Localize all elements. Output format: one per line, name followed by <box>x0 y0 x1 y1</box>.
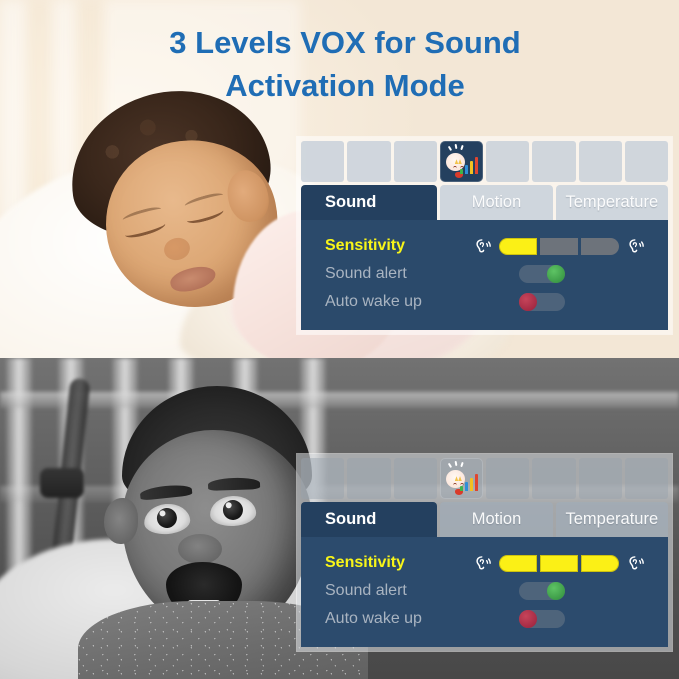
row-auto-wake-up[interactable]: Auto wake up <box>301 605 668 633</box>
product-feature-graphic: 3 Levels VOX for Sound Activation Mode <box>0 0 679 679</box>
page-title-line1: 3 Levels VOX for Sound <box>169 25 520 60</box>
ray-icon <box>448 463 452 468</box>
menu-slot-8[interactable] <box>625 458 668 499</box>
ear-low-icon <box>473 238 492 255</box>
ear-low-icon <box>473 555 492 572</box>
tab-temperature[interactable]: Temperature <box>556 185 668 220</box>
level-bar <box>470 478 474 491</box>
sensitivity-label: Sensitivity <box>325 554 473 572</box>
menu-slot-1[interactable] <box>301 458 344 499</box>
ear-high-icon <box>626 238 645 255</box>
level-bar <box>465 482 469 491</box>
menu-icon-strip <box>301 141 668 182</box>
tab-motion[interactable]: Motion <box>440 185 552 220</box>
menu-slot-2[interactable] <box>347 458 390 499</box>
sound-alert-label: Sound alert <box>325 265 473 283</box>
menu-slot-1[interactable] <box>301 141 344 182</box>
sensitivity-control[interactable] <box>473 238 645 255</box>
baby-nose <box>178 534 222 564</box>
ray-icon <box>460 145 463 150</box>
page-title-line2: Activation Mode <box>110 65 580 108</box>
level-bar <box>460 169 464 174</box>
toggle-knob-on <box>547 582 565 600</box>
ray-icon <box>454 461 456 466</box>
tab-sound[interactable]: Sound <box>301 185 437 220</box>
menu-slot-7[interactable] <box>579 141 622 182</box>
level-bar <box>475 474 479 491</box>
baby-pupil <box>156 508 178 530</box>
menu-slot-8[interactable] <box>625 141 668 182</box>
page-title: 3 Levels VOX for Sound Activation Mode <box>110 22 580 108</box>
tab-sound[interactable]: Sound <box>301 502 437 537</box>
auto-wake-up-toggle[interactable] <box>519 610 565 628</box>
sound-level-bars-icon <box>460 474 479 491</box>
menu-slot-3[interactable] <box>394 458 437 499</box>
ray-icon <box>448 146 452 151</box>
toggle-knob-off <box>519 610 537 628</box>
baby-pupil <box>222 500 243 521</box>
level-bar-1[interactable] <box>499 555 537 572</box>
menu-slot-sound-active[interactable] <box>440 458 483 499</box>
menu-slot-sound-active[interactable] <box>440 141 483 182</box>
sound-alert-toggle[interactable] <box>519 265 565 283</box>
sensitivity-label: Sensitivity <box>325 237 473 255</box>
eye-icon <box>453 483 457 488</box>
ray-icon <box>454 144 456 149</box>
auto-wake-up-toggle[interactable] <box>519 293 565 311</box>
row-sound-alert[interactable]: Sound alert <box>301 577 668 605</box>
sensitivity-level-bars[interactable] <box>499 555 619 572</box>
settings-body: Sensitivity <box>301 537 668 647</box>
level-bar <box>465 165 469 174</box>
level-bar <box>460 486 464 491</box>
level-bar <box>470 161 474 174</box>
toggle-knob-off <box>519 293 537 311</box>
level-bar <box>475 157 479 174</box>
screen-bezel: Sound Motion Temperature Sensitivity <box>297 137 672 334</box>
level-bar-2[interactable] <box>540 238 578 255</box>
sound-level-bars-icon <box>460 157 479 174</box>
auto-wake-up-label: Auto wake up <box>325 610 473 628</box>
menu-slot-3[interactable] <box>394 141 437 182</box>
menu-slot-2[interactable] <box>347 141 390 182</box>
baby-ear <box>104 498 138 544</box>
sound-alert-label: Sound alert <box>325 582 473 600</box>
menu-icon-strip <box>301 458 668 499</box>
tab-temperature[interactable]: Temperature <box>556 502 668 537</box>
row-sensitivity[interactable]: Sensitivity <box>301 549 668 577</box>
settings-body: Sensitivity <box>301 220 668 330</box>
monitor-ui-panel-night: Sound Motion Temperature Sensitivity <box>297 454 672 651</box>
level-bar-3[interactable] <box>581 238 619 255</box>
ray-icon <box>460 462 463 467</box>
row-auto-wake-up[interactable]: Auto wake up <box>301 288 668 316</box>
level-bar-3[interactable] <box>581 555 619 572</box>
menu-slot-5[interactable] <box>486 458 529 499</box>
screen-bezel: Sound Motion Temperature Sensitivity <box>297 454 672 651</box>
menu-slot-5[interactable] <box>486 141 529 182</box>
toggle-knob-on <box>547 265 565 283</box>
crying-baby-sound-icon <box>443 144 480 179</box>
level-bar-1[interactable] <box>499 238 537 255</box>
sound-alert-toggle[interactable] <box>519 582 565 600</box>
menu-slot-6[interactable] <box>532 141 575 182</box>
baby-eyebrow-right <box>208 477 260 491</box>
menu-slot-6[interactable] <box>532 458 575 499</box>
monitor-ui-panel-day: Sound Motion Temperature Sensitivity <box>297 137 672 334</box>
row-sound-alert[interactable]: Sound alert <box>301 260 668 288</box>
auto-wake-up-label: Auto wake up <box>325 293 473 311</box>
eye-icon <box>453 166 457 171</box>
settings-tabbar: Sound Motion Temperature <box>301 502 668 537</box>
settings-tabbar: Sound Motion Temperature <box>301 185 668 220</box>
row-sensitivity[interactable]: Sensitivity <box>301 232 668 260</box>
menu-slot-7[interactable] <box>579 458 622 499</box>
tab-motion[interactable]: Motion <box>440 502 552 537</box>
sensitivity-level-bars[interactable] <box>499 238 619 255</box>
crying-baby-sound-icon <box>443 461 480 496</box>
sensitivity-control[interactable] <box>473 555 645 572</box>
level-bar-2[interactable] <box>540 555 578 572</box>
ear-high-icon <box>626 555 645 572</box>
